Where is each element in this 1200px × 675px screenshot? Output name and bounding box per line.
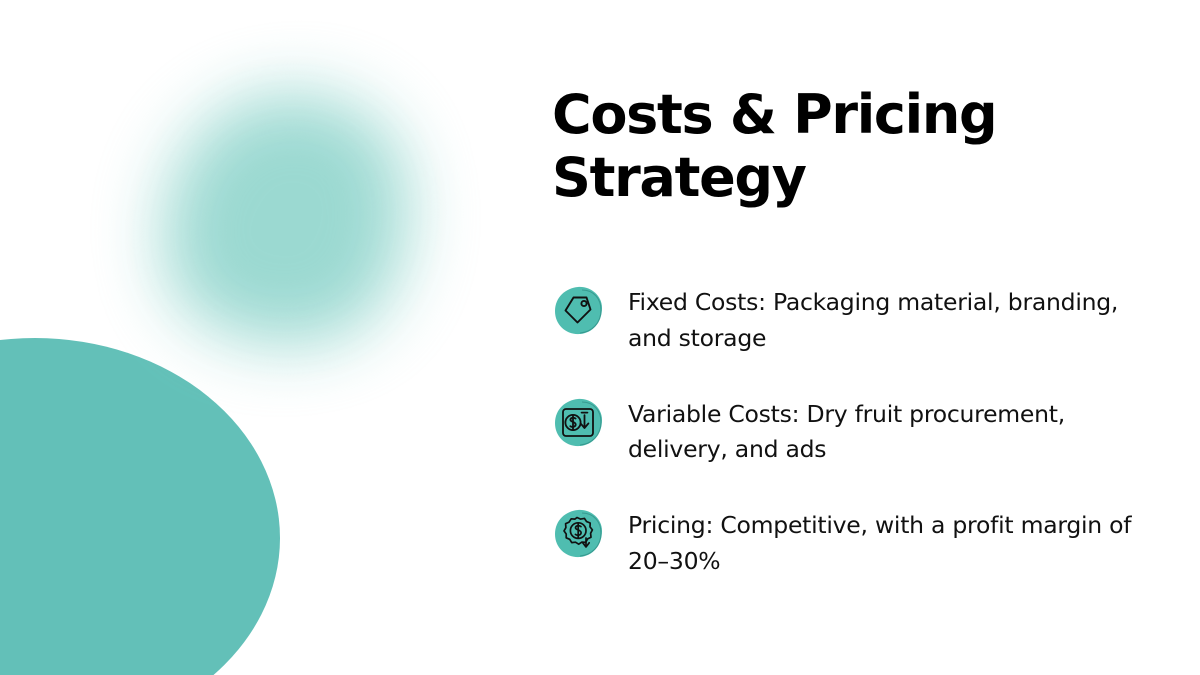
list-item-label: Fixed Costs: Packaging material, brandin…	[628, 283, 1138, 356]
list-item: Variable Costs: Dry fruit procurement, d…	[552, 395, 1152, 468]
bullet-list: Fixed Costs: Packaging material, brandin…	[552, 283, 1152, 579]
large-teal-ellipse	[0, 338, 280, 675]
list-item-label: Variable Costs: Dry fruit procurement, d…	[628, 395, 1138, 468]
price-tag-icon	[552, 284, 604, 336]
list-item-label: Pricing: Competitive, with a profit marg…	[628, 506, 1138, 579]
list-item: Fixed Costs: Packaging material, brandin…	[552, 283, 1152, 356]
list-item: Pricing: Competitive, with a profit marg…	[552, 506, 1152, 579]
content-column: Costs & Pricing Strategy Fixed Costs: Pa…	[552, 84, 1152, 580]
page-title: Costs & Pricing Strategy	[552, 84, 1022, 209]
dollar-decrease-icon	[552, 396, 604, 448]
slide-canvas: Costs & Pricing Strategy Fixed Costs: Pa…	[0, 0, 1200, 675]
blurred-teal-blob	[140, 75, 430, 365]
price-badge-icon	[552, 507, 604, 559]
